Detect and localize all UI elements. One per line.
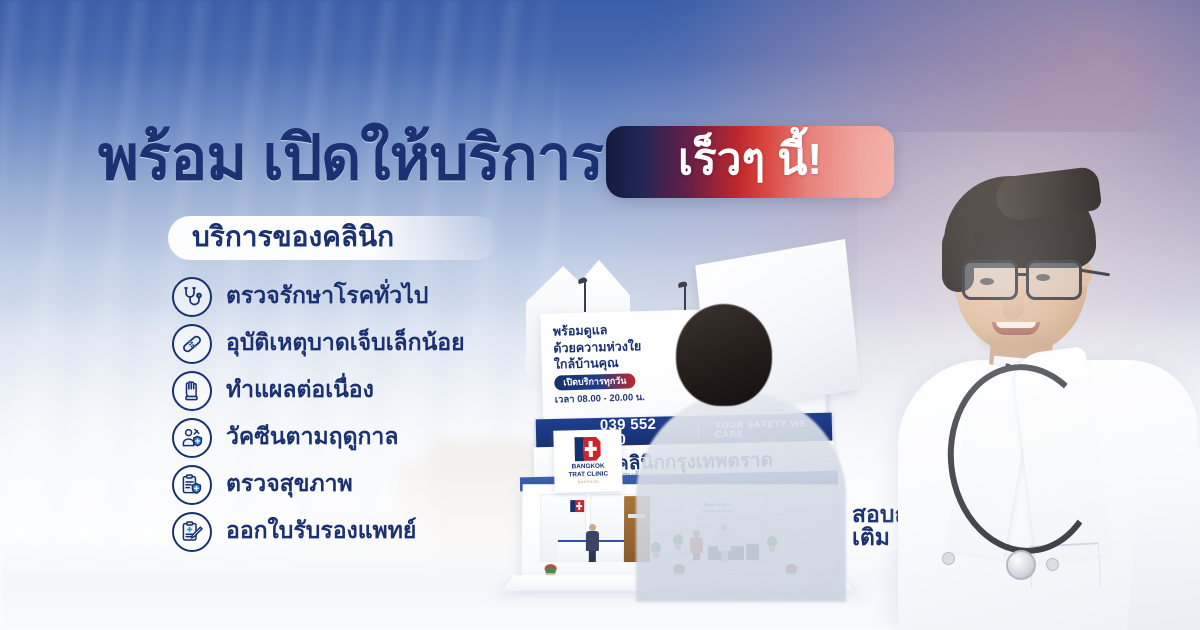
logo-bar-shape <box>574 437 584 461</box>
list-item: ตรวจรักษาโรคทั่วไป <box>172 273 465 320</box>
list-item: ตรวจสุขภาพ <box>172 461 465 508</box>
billboard-open-badge: เปิดบริการทุกวัน <box>554 373 635 390</box>
list-item-label: วัคซีนตามฤดูกาล <box>226 425 398 448</box>
figure-head <box>589 524 596 531</box>
services-list: ตรวจรักษาโรคทั่วไป อุบัติเหตุบาดเจ็บเล็ก… <box>172 273 465 555</box>
stethoscope-earpiece <box>942 552 955 565</box>
spotlight-head-icon <box>678 281 688 288</box>
glasses-lens <box>962 260 1018 300</box>
staff-figure <box>586 524 599 562</box>
list-item-label: ตรวจสุขภาพ <box>226 472 353 495</box>
list-item-label: อุบัติเหตุบาดเจ็บเล็กน้อย <box>226 331 465 354</box>
glove-icon <box>172 371 212 411</box>
figure-shoulders <box>636 392 846 602</box>
doctor-photo <box>884 152 1200 630</box>
spotlight-pole-icon <box>584 282 586 312</box>
list-item-label: ออกใบรับรองแพทย์ <box>226 519 416 542</box>
billboard-hours: เวลา 08.00 - 20.00 น. <box>555 393 645 405</box>
patient-back-figure <box>650 300 850 600</box>
list-item: ทำแผลต่อเนื่อง <box>172 367 465 414</box>
clinic-logo-text: BANGKOK TRAT CLINIC <box>568 462 608 480</box>
glasses-bridge <box>1017 273 1029 276</box>
list-item: ออกใบรับรองแพทย์ <box>172 508 465 555</box>
bandage-icon <box>172 324 212 364</box>
figure-legs <box>589 551 596 562</box>
list-item-label: ตรวจรักษาโรคทั่วไป <box>226 284 428 307</box>
stethoscope-earpiece <box>1046 558 1059 571</box>
glasses-temple <box>1080 269 1110 277</box>
glasses-icon <box>956 260 1104 302</box>
stethoscope-icon <box>172 277 212 317</box>
medical-cross-icon <box>585 447 597 451</box>
clinic-logo-mark-icon <box>574 436 601 461</box>
coming-soon-badge: เร็วๆ นี้! <box>606 126 894 198</box>
clinic-logo-plaque: BANGKOK TRAT CLINIC BANGKOK <box>553 429 622 493</box>
list-item: อุบัติเหตุบาดเจ็บเล็กน้อย <box>172 320 465 367</box>
list-item-label: ทำแผลต่อเนื่อง <box>226 378 374 401</box>
medical-cross-icon <box>576 505 582 507</box>
coming-soon-badge-label: เร็วๆ นี้! <box>678 138 822 182</box>
clipboard-shield-icon <box>172 465 212 505</box>
doctor-chin-shadow <box>980 334 1056 352</box>
stethoscope-chestpiece <box>1006 550 1036 580</box>
figure-body <box>586 531 599 551</box>
banner-stage: พร้อม เปิดให้บริการ เร็วๆ นี้! บริการของ… <box>0 0 1200 630</box>
page-title: พร้อม เปิดให้บริการ <box>98 128 603 190</box>
certificate-pen-icon <box>172 512 212 552</box>
billboard-headline: พร้อมดูแล ด้วยความห่วงใย ใกล้บ้านคุณ <box>553 321 642 373</box>
services-section-title: บริการของคลินิก <box>168 223 394 251</box>
glasses-lens <box>1026 260 1082 300</box>
clinic-logo-tagline: BANGKOK <box>578 481 600 485</box>
services-section-pill: บริการของคลินิก <box>168 216 498 260</box>
interior-logo-icon <box>570 500 584 512</box>
doctor-teeth <box>996 322 1036 328</box>
figure-head <box>676 304 772 406</box>
list-item: วัคซีนตามฤดูกาล <box>172 414 465 461</box>
vaccine-shield-icon <box>172 418 212 458</box>
